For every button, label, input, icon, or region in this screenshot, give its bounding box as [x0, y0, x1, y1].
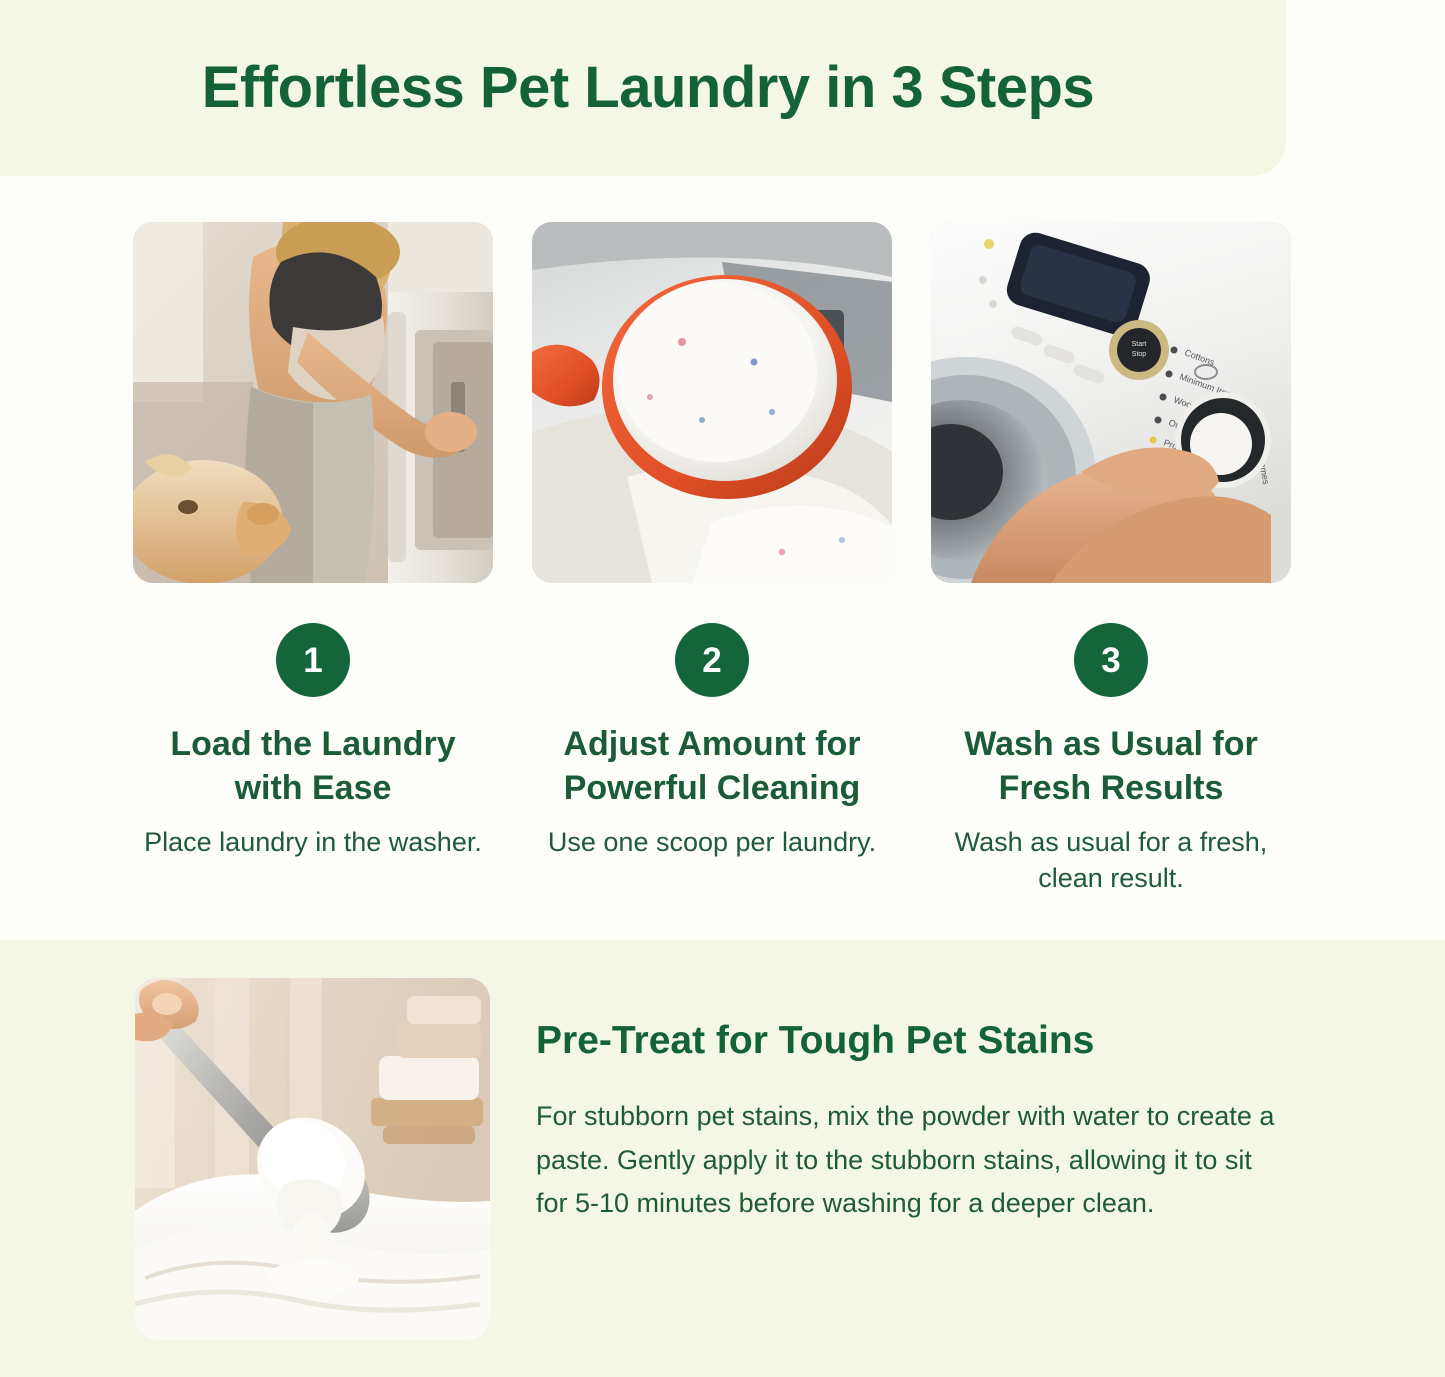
detergent-scoop-icon: [532, 222, 892, 583]
step-1-photo: [133, 222, 493, 583]
step-1-title: Load the Laundry with Ease: [143, 723, 483, 810]
header-banner: Effortless Pet Laundry in 3 Steps: [0, 0, 1286, 176]
pretreat-photo: [135, 978, 490, 1340]
hand-turning-washer-dial-icon: Start Stop Cottons: [931, 222, 1291, 583]
pretreat-title: Pre-Treat for Tough Pet Stains: [536, 1018, 1296, 1065]
steps-row: 1 Load the Laundry with Ease Place laund…: [133, 222, 1290, 897]
pretreat-inner: Pre-Treat for Tough Pet Stains For stubb…: [135, 978, 1296, 1340]
infographic-page: Effortless Pet Laundry in 3 Steps: [0, 0, 1445, 1377]
step-3-description: Wash as usual for a fresh, clean result.: [936, 824, 1286, 897]
step-card-1: 1 Load the Laundry with Ease Place laund…: [133, 222, 493, 897]
child-loading-washer-icon: [133, 222, 493, 583]
step-2-description: Use one scoop per laundry.: [548, 824, 876, 860]
svg-text:Stop: Stop: [1132, 351, 1147, 358]
pretreat-section: Pre-Treat for Tough Pet Stains For stubb…: [0, 940, 1445, 1377]
spoon-with-paste-icon: [135, 978, 490, 1340]
step-2-badge: 2: [675, 623, 749, 697]
step-3-title: Wash as Usual for Fresh Results: [941, 723, 1281, 810]
step-card-3: Start Stop Cottons: [931, 222, 1291, 897]
step-3-photo: Start Stop Cottons: [931, 222, 1291, 583]
svg-text:Start: Start: [1132, 341, 1147, 348]
step-2-title: Adjust Amount for Powerful Cleaning: [542, 723, 882, 810]
page-title: Effortless Pet Laundry in 3 Steps: [192, 56, 1094, 120]
step-2-photo: [532, 222, 892, 583]
step-1-badge: 1: [276, 623, 350, 697]
steps-section: 1 Load the Laundry with Ease Place laund…: [0, 176, 1445, 940]
pretreat-body: For stubborn pet stains, mix the powder …: [536, 1095, 1288, 1226]
step-card-2: 2 Adjust Amount for Powerful Cleaning Us…: [532, 222, 892, 897]
pretreat-text: Pre-Treat for Tough Pet Stains For stubb…: [536, 978, 1296, 1226]
step-3-badge: 3: [1074, 623, 1148, 697]
step-1-description: Place laundry in the washer.: [144, 824, 482, 860]
